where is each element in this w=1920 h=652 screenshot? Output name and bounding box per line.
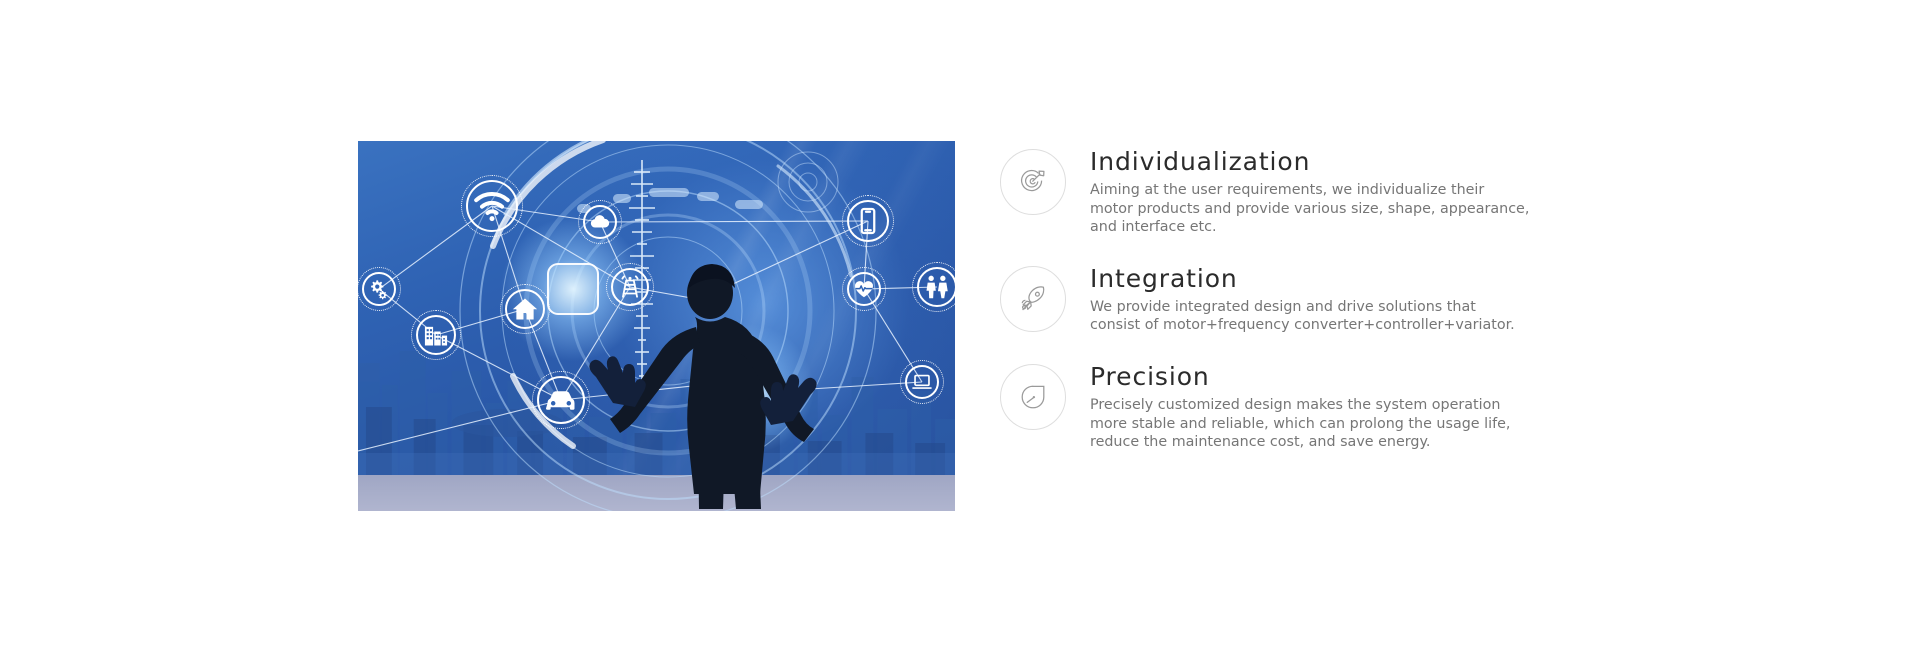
- gears-icon: [368, 278, 390, 300]
- feature-icon-circle: [1000, 364, 1066, 430]
- feature-description: Aiming at the user requirements, we indi…: [1090, 181, 1530, 237]
- wifi-icon: [472, 186, 512, 226]
- car-node: [532, 371, 590, 429]
- building-node: [411, 310, 461, 360]
- feature-title: Integration: [1090, 265, 1530, 293]
- target-dart-icon: [1017, 166, 1049, 198]
- wifi-node: [461, 175, 523, 237]
- laptop-node: [900, 360, 944, 404]
- car-icon: [543, 382, 579, 418]
- people-icon: [923, 273, 951, 301]
- feature-item-integration: Integration We provide integrated design…: [1000, 264, 1558, 335]
- feature-item-precision: Precision Precisely customized design ma…: [1000, 362, 1558, 452]
- cloud-node: [578, 200, 622, 244]
- feature-description: We provide integrated design and drive s…: [1090, 298, 1530, 335]
- feature-title: Precision: [1090, 363, 1530, 391]
- cloud-icon: [589, 211, 611, 233]
- home-icon: [511, 295, 539, 323]
- hero-section: Individualization Aiming at the user req…: [358, 141, 1558, 521]
- feature-icon-circle: [1000, 266, 1066, 332]
- tower-node: [606, 263, 654, 311]
- hero-image: [358, 141, 955, 511]
- feature-text-block: Integration We provide integrated design…: [1066, 264, 1530, 335]
- feature-text-block: Individualization Aiming at the user req…: [1066, 147, 1530, 237]
- feature-description: Precisely customized design makes the sy…: [1090, 396, 1530, 452]
- people-node: [912, 262, 955, 312]
- feature-icon-circle: [1000, 149, 1066, 215]
- feature-item-individualization: Individualization Aiming at the user req…: [1000, 147, 1558, 237]
- speedometer-icon: [1017, 381, 1049, 413]
- mobile-node: [842, 195, 894, 247]
- gears-node: [358, 267, 401, 311]
- page-root: Individualization Aiming at the user req…: [0, 0, 1920, 652]
- rocket-icon: [1017, 283, 1049, 315]
- home-node: [500, 284, 550, 334]
- feature-list: Individualization Aiming at the user req…: [955, 141, 1558, 452]
- laptop-icon: [911, 371, 933, 393]
- mobile-icon: [853, 206, 883, 236]
- feature-title: Individualization: [1090, 148, 1530, 176]
- health-node: [842, 267, 886, 311]
- building-icon: [422, 321, 450, 349]
- feature-text-block: Precision Precisely customized design ma…: [1066, 362, 1530, 452]
- heartbeat-icon: [853, 278, 875, 300]
- cell-tower-icon: [617, 274, 643, 300]
